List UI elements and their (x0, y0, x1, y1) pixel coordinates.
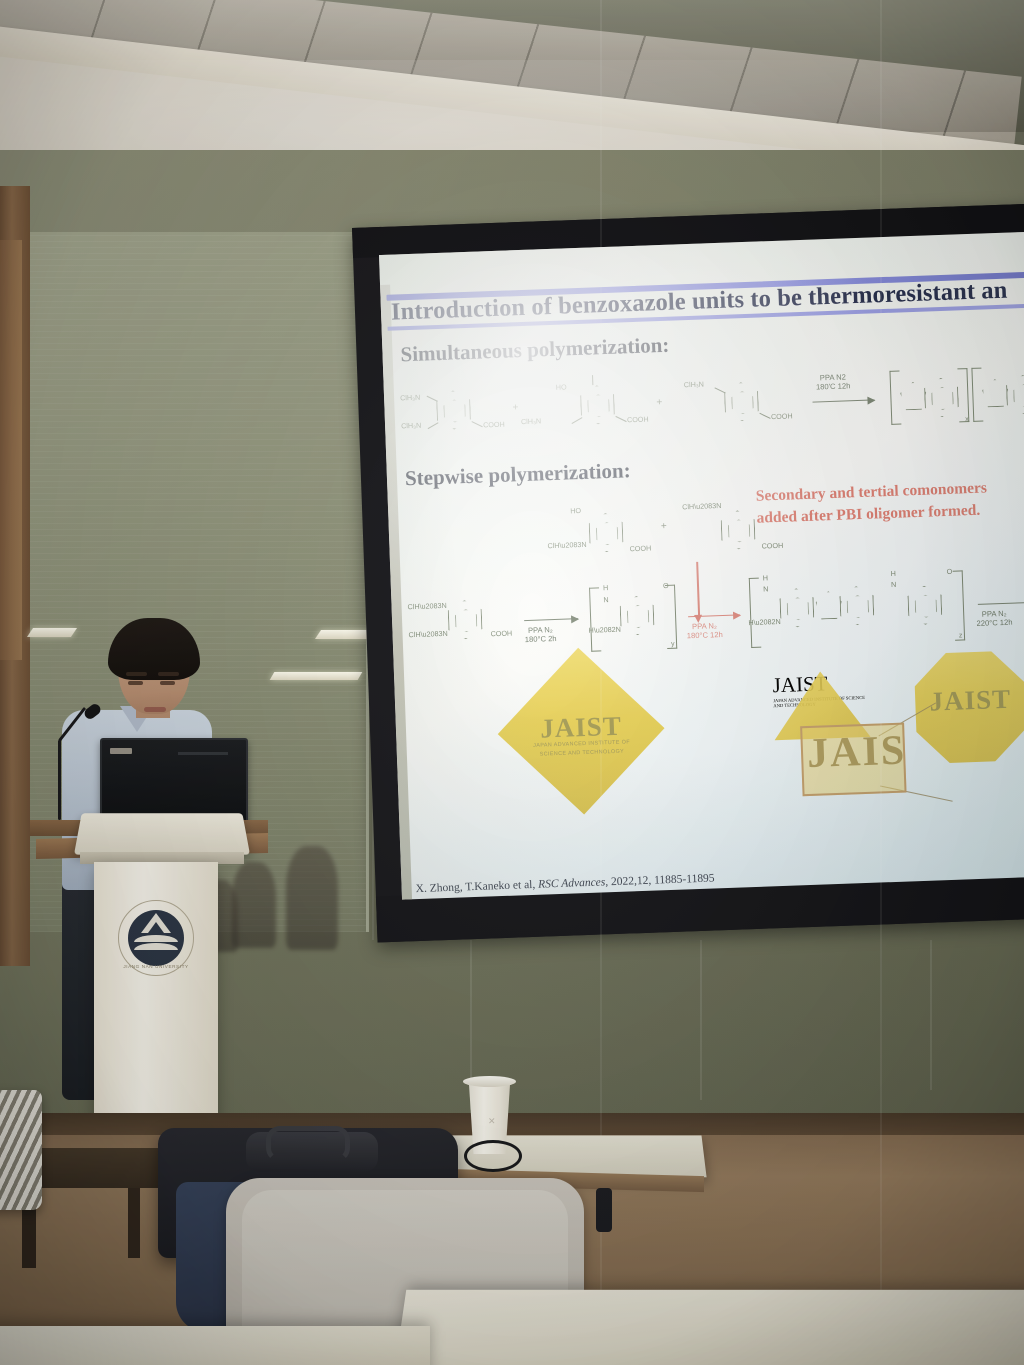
bench-leg (128, 1188, 140, 1258)
laptop-bezel-strip (178, 752, 228, 755)
presentation-photo-scene: Introduction of benzoxazole units to be … (0, 0, 1024, 1365)
mountain-inner-icon (148, 922, 164, 933)
paper-cup-print: ✕ (488, 1116, 496, 1127)
laptop-logo-icon (110, 748, 132, 754)
microphone-stand (58, 740, 61, 820)
podium-emblem: JIANG NAN UNIVERSITY (118, 900, 194, 976)
presenter-eye (128, 681, 143, 685)
wave-icon (134, 943, 178, 950)
wave-icon (134, 935, 178, 942)
foreground-table-left (0, 1326, 430, 1365)
backpack-handle (266, 1126, 350, 1162)
foreground-table (394, 1290, 1024, 1365)
presenter-mouth (144, 707, 166, 712)
cable-loop (464, 1140, 522, 1172)
striped-tote-bag (0, 1090, 42, 1210)
wainscot-seam (880, 0, 882, 1365)
paper-cup-rim (463, 1076, 516, 1087)
podium-top (74, 813, 250, 854)
presenter-eyebrow (126, 672, 147, 676)
emblem-label: JIANG NAN UNIVERSITY (119, 964, 193, 969)
table-bracket (596, 1188, 612, 1232)
presenter-hair (108, 618, 200, 680)
wainscot-top-rail (0, 1113, 1024, 1135)
presenter-eye (160, 681, 175, 685)
presenter-eyebrow (158, 672, 179, 676)
